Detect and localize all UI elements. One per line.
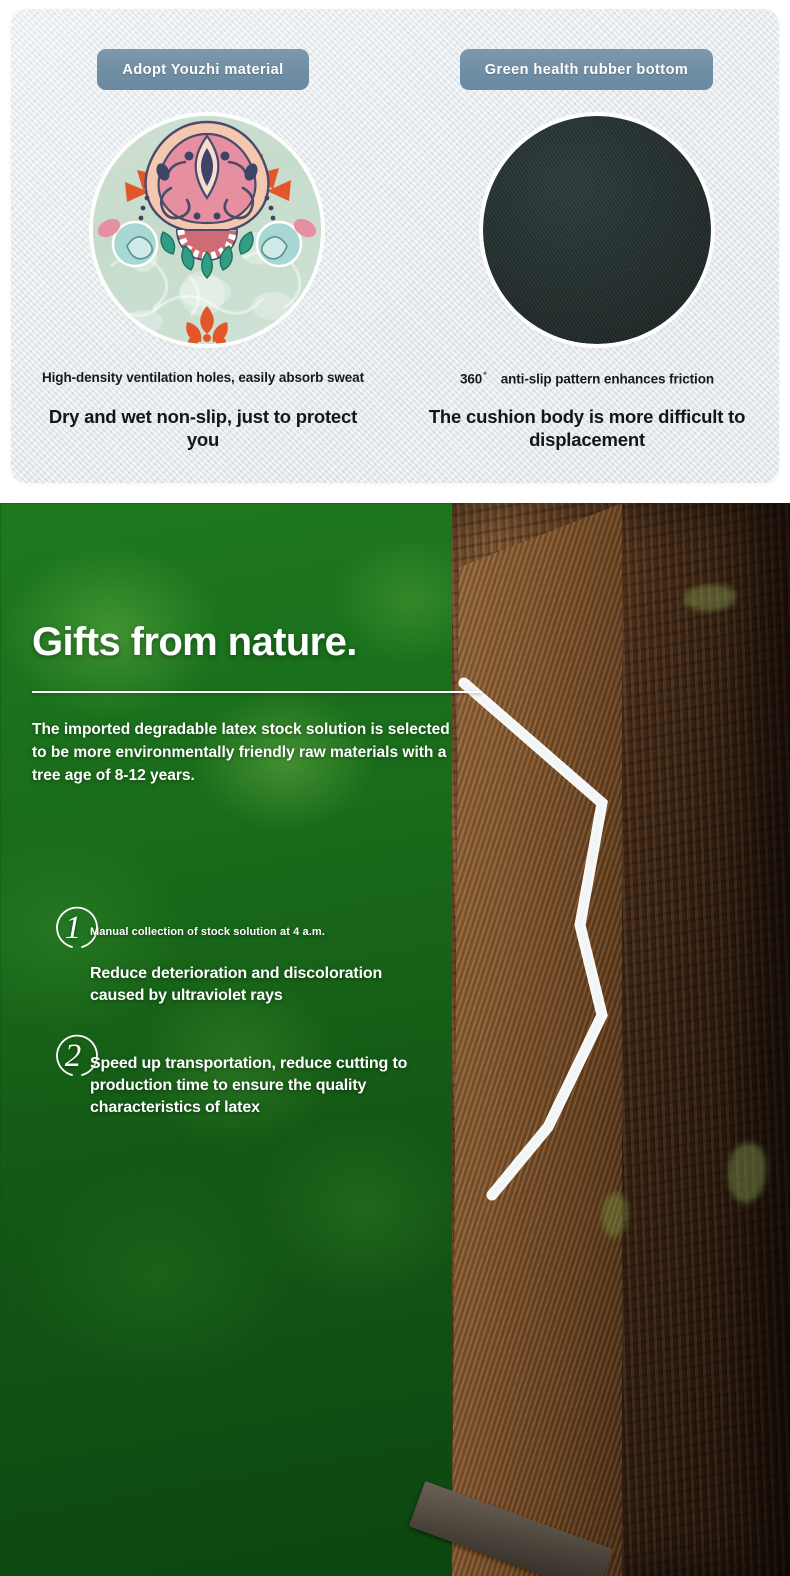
- moss-patch: [602, 1193, 628, 1237]
- point-1-subtext: Manual collection of stock solution at 4…: [90, 925, 340, 940]
- moss-patch: [684, 585, 736, 611]
- rubber-tree-trunk: [452, 503, 790, 1576]
- nature-banner: Gifts from nature. The imported degradab…: [0, 503, 790, 1576]
- headline-non-slip: Dry and wet non-slip, just to protect yo…: [11, 405, 395, 452]
- title-divider: [32, 691, 482, 693]
- nature-subtitle: The imported degradable latex stock solu…: [32, 719, 452, 788]
- caption-anti-slip: 360°anti-slip pattern enhances friction: [395, 370, 779, 387]
- headline-cushion-body: The cushion body is more difficult to di…: [395, 405, 779, 452]
- pill-green-health-rubber-bottom[interactable]: Green health rubber bottom: [460, 49, 713, 90]
- paisley-pattern-circle: [93, 116, 321, 344]
- caption-anti-slip-text: anti-slip pattern enhances friction: [501, 372, 714, 387]
- caption-ventilation: High-density ventilation holes, easily a…: [11, 370, 395, 385]
- feature-card: Adopt Youzhi material: [11, 9, 779, 483]
- point-2-text: Speed up transportation, reduce cutting …: [90, 1053, 435, 1119]
- black-rubber-circle: [483, 116, 711, 344]
- feature-column-rubber: Green health rubber bottom 360°anti-slip…: [395, 9, 779, 483]
- point-1-text: Reduce deterioration and discoloration c…: [90, 963, 435, 1007]
- moss-patch: [728, 1143, 766, 1203]
- trunk-tapping-cut: [452, 503, 622, 1576]
- caption-360-value: 360: [460, 372, 482, 387]
- rubber-texture-graphic: [483, 116, 711, 344]
- product-feature-page: Adopt Youzhi material: [0, 0, 790, 1576]
- feature-column-material: Adopt Youzhi material: [11, 9, 395, 483]
- degree-symbol-icon: °: [483, 370, 487, 380]
- pill-adopt-youzhi-material[interactable]: Adopt Youzhi material: [97, 49, 309, 90]
- nature-title: Gifts from nature.: [32, 620, 357, 665]
- paisley-pattern-graphic: [93, 116, 321, 344]
